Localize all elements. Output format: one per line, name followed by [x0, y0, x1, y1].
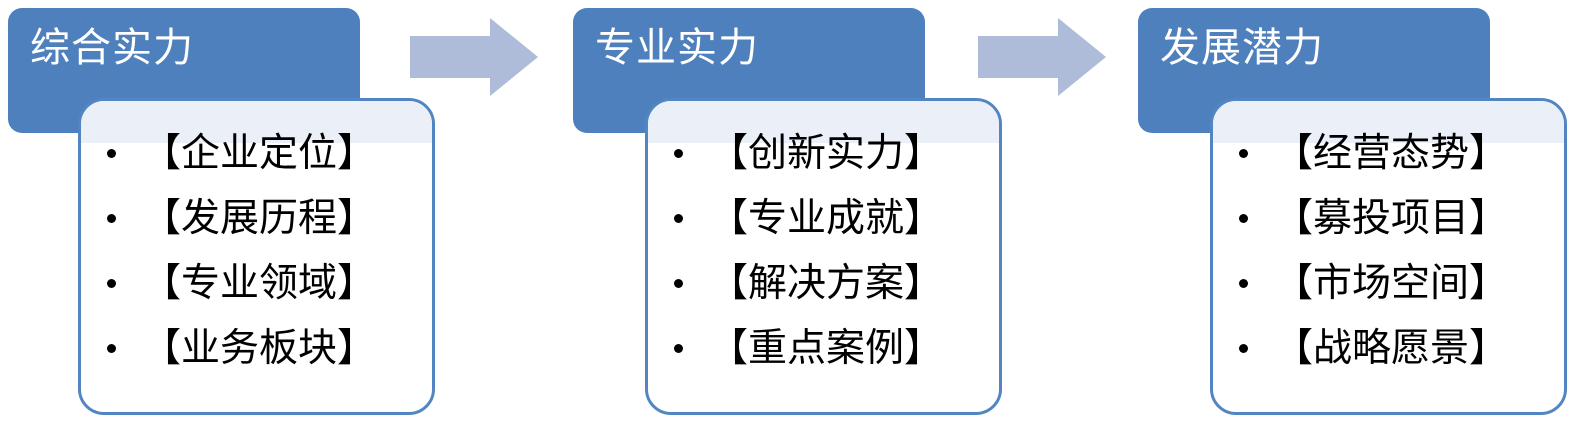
list-item-label: 【企业定位】 — [142, 131, 376, 176]
list-item[interactable]: 【专业成就】 — [648, 186, 999, 251]
diagram-canvas: 综合实力 【企业定位】 【发展历程】 【专业领域】 【业务板块】 — [0, 0, 1590, 423]
arrow-stage2-to-stage3-icon — [978, 18, 1106, 96]
list-item[interactable]: 【重点案例】 — [648, 316, 999, 381]
stage-header-label-3: 发展潜力 — [1160, 22, 1324, 74]
list-item-label: 【业务板块】 — [142, 326, 376, 371]
list-item[interactable]: 【企业定位】 — [81, 121, 432, 186]
bullet-dot-icon — [674, 344, 683, 353]
list-item-label: 【解决方案】 — [709, 261, 943, 306]
bullet-dot-icon — [674, 149, 683, 158]
list-item-label: 【重点案例】 — [709, 326, 943, 371]
arrow-stage1-to-stage2-icon — [410, 18, 538, 96]
list-item-label: 【发展历程】 — [142, 196, 376, 241]
list-item-label: 【经营态势】 — [1274, 131, 1508, 176]
list-item[interactable]: 【战略愿景】 — [1213, 316, 1564, 381]
stage-card-2[interactable]: 【创新实力】 【专业成就】 【解决方案】 【重点案例】 — [645, 98, 1002, 415]
bullet-dot-icon — [674, 214, 683, 223]
stage-header-label-2: 专业实力 — [595, 22, 759, 74]
list-item[interactable]: 【经营态势】 — [1213, 121, 1564, 186]
list-item-label: 【专业领域】 — [142, 261, 376, 306]
list-item-label: 【募投项目】 — [1274, 196, 1508, 241]
stage-bullet-list-3: 【经营态势】 【募投项目】 【市场空间】 【战略愿景】 — [1213, 101, 1564, 381]
list-item[interactable]: 【发展历程】 — [81, 186, 432, 251]
list-item[interactable]: 【解决方案】 — [648, 251, 999, 316]
list-item[interactable]: 【募投项目】 — [1213, 186, 1564, 251]
stage-card-3[interactable]: 【经营态势】 【募投项目】 【市场空间】 【战略愿景】 — [1210, 98, 1567, 415]
stage-header-label-1: 综合实力 — [30, 22, 194, 74]
bullet-dot-icon — [1239, 279, 1248, 288]
bullet-dot-icon — [107, 344, 116, 353]
list-item[interactable]: 【市场空间】 — [1213, 251, 1564, 316]
list-item-label: 【市场空间】 — [1274, 261, 1508, 306]
stage-bullet-list-1: 【企业定位】 【发展历程】 【专业领域】 【业务板块】 — [81, 101, 432, 381]
list-item[interactable]: 【业务板块】 — [81, 316, 432, 381]
bullet-dot-icon — [674, 279, 683, 288]
bullet-dot-icon — [107, 149, 116, 158]
bullet-dot-icon — [1239, 344, 1248, 353]
bullet-dot-icon — [1239, 214, 1248, 223]
bullet-dot-icon — [1239, 149, 1248, 158]
bullet-dot-icon — [107, 214, 116, 223]
list-item-label: 【专业成就】 — [709, 196, 943, 241]
list-item-label: 【战略愿景】 — [1274, 326, 1508, 371]
list-item[interactable]: 【专业领域】 — [81, 251, 432, 316]
stage-bullet-list-2: 【创新实力】 【专业成就】 【解决方案】 【重点案例】 — [648, 101, 999, 381]
list-item[interactable]: 【创新实力】 — [648, 121, 999, 186]
bullet-dot-icon — [107, 279, 116, 288]
list-item-label: 【创新实力】 — [709, 131, 943, 176]
stage-card-1[interactable]: 【企业定位】 【发展历程】 【专业领域】 【业务板块】 — [78, 98, 435, 415]
